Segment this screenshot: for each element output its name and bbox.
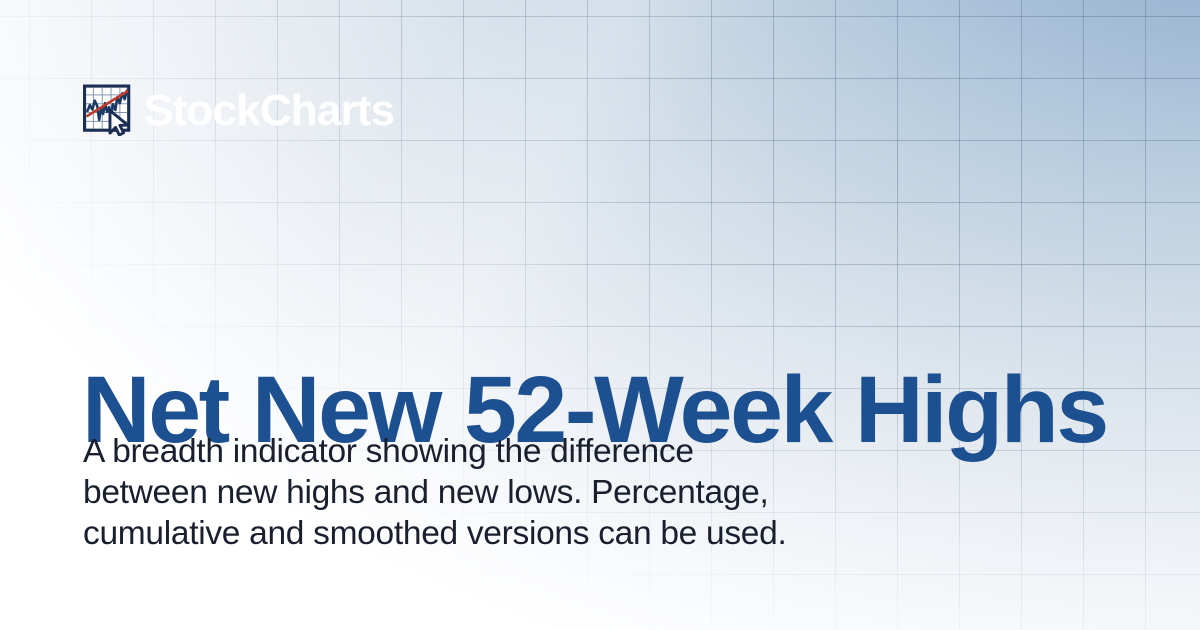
description-line: between new highs and new lows. Percenta… <box>83 472 786 513</box>
description-line: A breadth indicator showing the differen… <box>83 431 786 472</box>
page-description: A breadth indicator showing the differen… <box>83 431 786 554</box>
description-line: cumulative and smoothed versions can be … <box>83 513 786 554</box>
stockchart-cursor-icon <box>83 84 134 136</box>
share-card: StockCharts Net New 52-Week Highs A brea… <box>0 0 1200 630</box>
brand-wordmark: StockCharts <box>144 89 394 133</box>
brand-logo[interactable]: StockCharts <box>83 84 394 136</box>
